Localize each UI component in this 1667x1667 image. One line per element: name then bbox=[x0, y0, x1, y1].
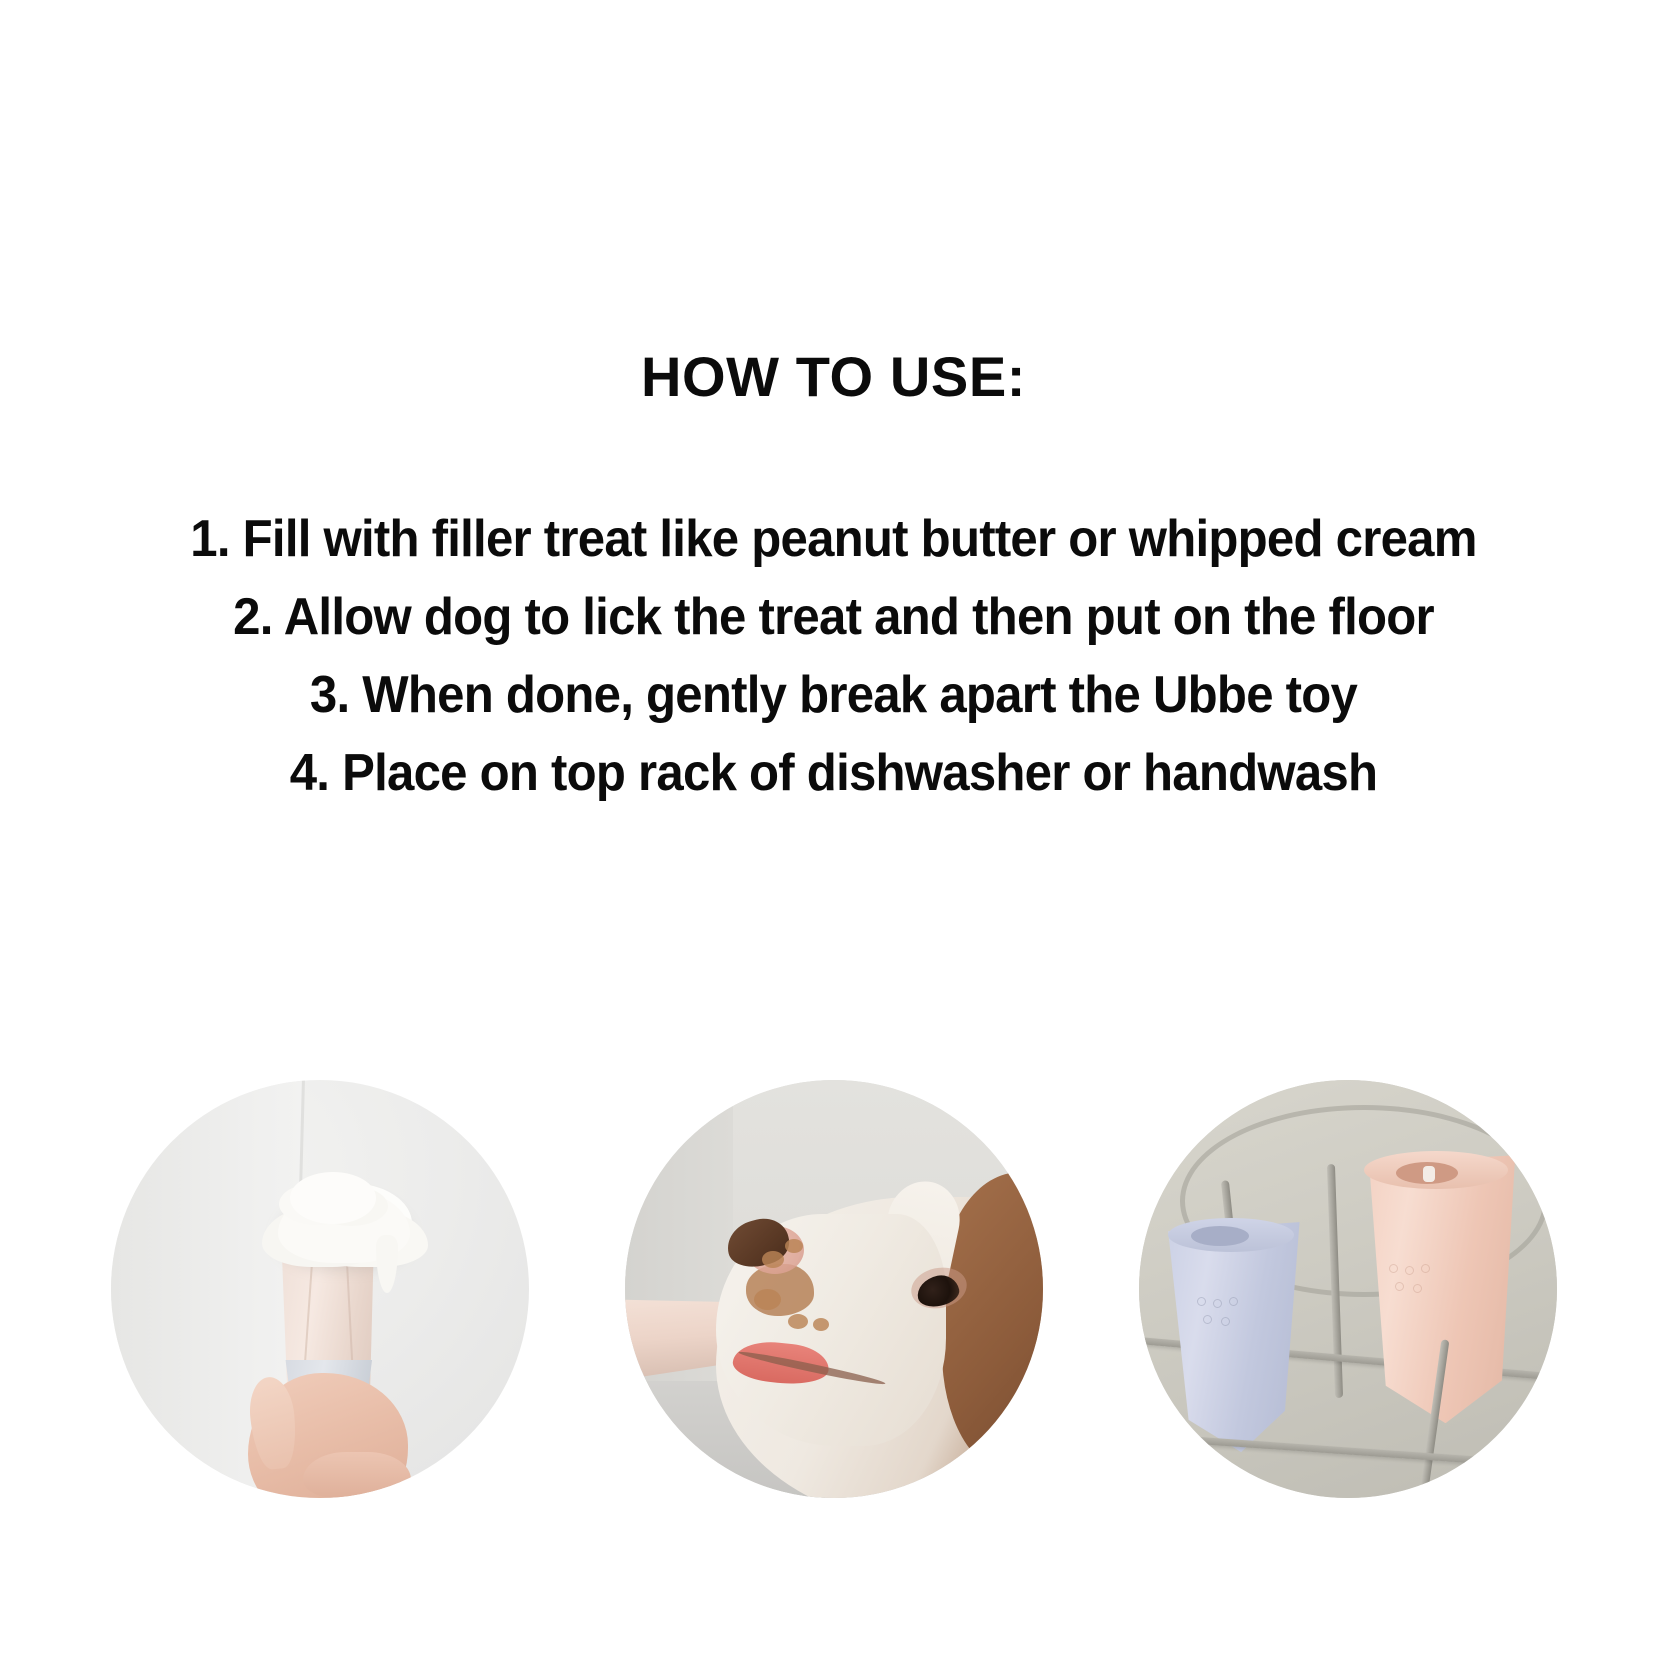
logo-dot bbox=[1395, 1282, 1404, 1291]
instruction-step-3: 3. When done, gently break apart the Ubb… bbox=[46, 656, 1621, 734]
photo-dog-licking bbox=[625, 1080, 1043, 1498]
instruction-step-2: 2. Allow dog to lick the treat and then … bbox=[46, 578, 1621, 656]
photo-dishwasher bbox=[1139, 1080, 1557, 1498]
logo-dot bbox=[1203, 1315, 1212, 1324]
instruction-step-4: 4. Place on top rack of dishwasher or ha… bbox=[46, 734, 1621, 812]
photo1-whipped-cream-peak bbox=[290, 1172, 376, 1224]
photo2-dog-spot bbox=[754, 1289, 781, 1310]
logo-dot bbox=[1389, 1264, 1398, 1273]
photo3-toy-pink-logo bbox=[1389, 1264, 1437, 1296]
logo-dot bbox=[1413, 1284, 1422, 1293]
instruction-step-1: 1. Fill with filler treat like peanut bu… bbox=[46, 500, 1621, 578]
logo-dot bbox=[1197, 1297, 1206, 1306]
page-title: HOW TO USE: bbox=[0, 348, 1667, 407]
photo3-toy-lavender-logo bbox=[1197, 1297, 1243, 1327]
logo-dot bbox=[1213, 1299, 1222, 1308]
photo3-toy-pink-inner-pin bbox=[1423, 1166, 1435, 1182]
photo-row bbox=[0, 1080, 1667, 1500]
instructions-list: 1. Fill with filler treat like peanut bu… bbox=[0, 500, 1667, 812]
logo-dot bbox=[1405, 1266, 1414, 1275]
logo-dot bbox=[1421, 1264, 1430, 1273]
photo2-dog-spot bbox=[788, 1314, 808, 1329]
photo2-dog-spot bbox=[813, 1318, 829, 1331]
photo-fill-with-treat bbox=[111, 1080, 529, 1498]
heading-block: HOW TO USE: bbox=[0, 348, 1667, 407]
photo1-whipped-cream-drip bbox=[376, 1235, 398, 1293]
how-to-use-page: HOW TO USE: 1. Fill with filler treat li… bbox=[0, 0, 1667, 1667]
logo-dot bbox=[1221, 1317, 1230, 1326]
logo-dot bbox=[1229, 1297, 1238, 1306]
photo1-fingers bbox=[303, 1452, 411, 1498]
